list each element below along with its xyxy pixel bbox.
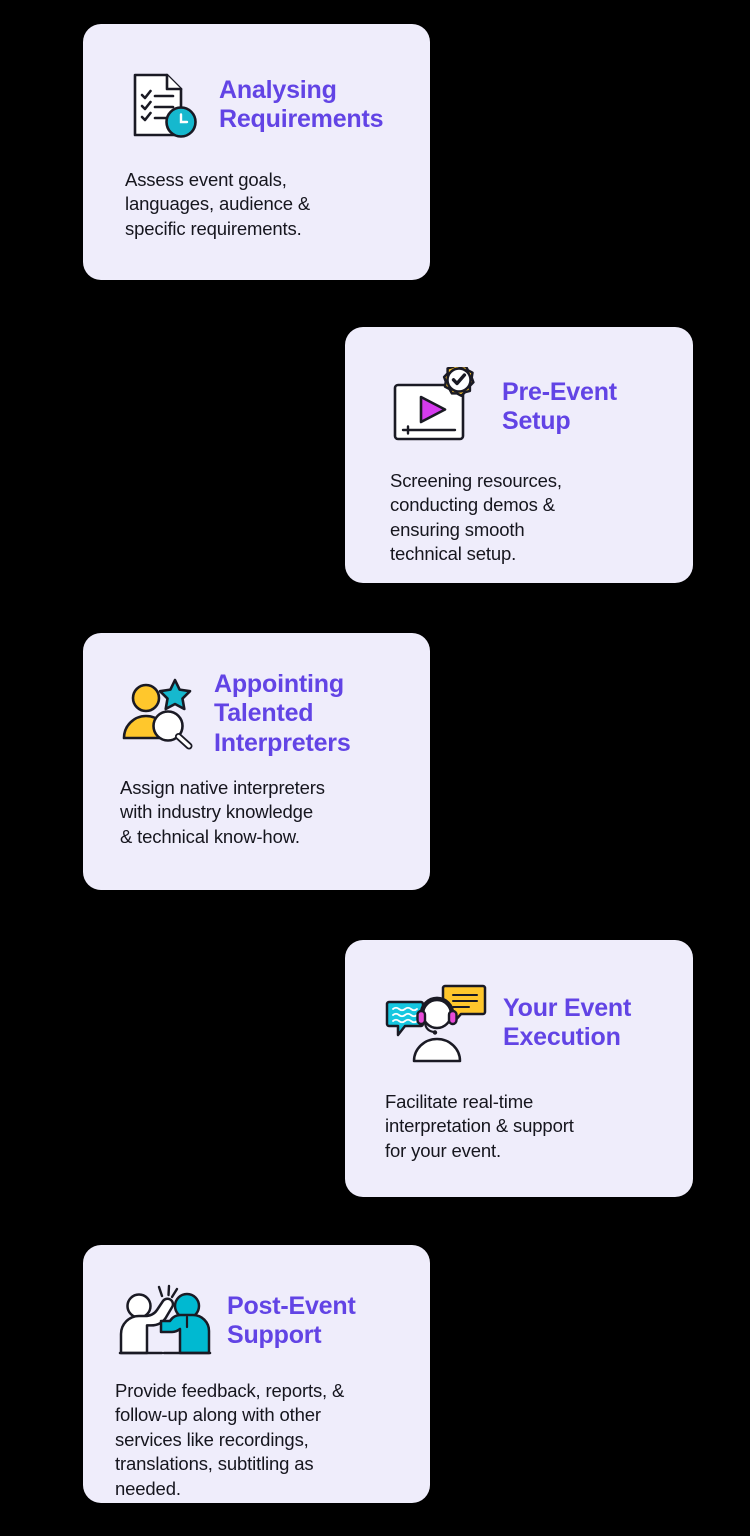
card-description: Facilitate real-time interpretation & su… [345, 1064, 660, 1163]
card-header: Your Event Execution [345, 940, 693, 1064]
card-title: Appointing Talented Interpreters [214, 670, 351, 758]
card-description: Assign native interpreters with industry… [83, 758, 398, 849]
headset-person-speech-bubbles-icon [385, 982, 489, 1064]
card-header: Analysing Requirements [83, 24, 430, 144]
step-card-your-event-execution[interactable]: Your Event Execution Facilitate real-tim… [345, 940, 693, 1197]
card-description: Assess event goals, languages, audience … [83, 144, 377, 241]
card-title: Post-Event Support [227, 1292, 356, 1351]
process-steps-infographic: Analysing Requirements Assess event goal… [0, 0, 750, 1536]
step-card-analysing-requirements[interactable]: Analysing Requirements Assess event goal… [83, 24, 430, 280]
card-header: Post-Event Support [83, 1245, 430, 1359]
card-header: Appointing Talented Interpreters [83, 633, 430, 758]
high-five-people-icon [115, 1283, 215, 1359]
step-card-appointing-talented-interpreters[interactable]: Appointing Talented Interpreters Assign … [83, 633, 430, 890]
card-description: Screening resources, conducting demos & … [345, 447, 635, 567]
card-header: Pre-Event Setup [345, 327, 693, 447]
video-player-gear-check-icon [390, 367, 486, 447]
document-checklist-clock-icon [125, 66, 203, 144]
card-title: Your Event Execution [503, 994, 631, 1053]
card-description: Provide feedback, reports, & follow-up a… [83, 1359, 405, 1501]
step-card-post-event-support[interactable]: Post-Event Support Provide feedback, rep… [83, 1245, 430, 1503]
card-title: Pre-Event Setup [502, 378, 617, 437]
step-card-pre-event-setup[interactable]: Pre-Event Setup Screening resources, con… [345, 327, 693, 583]
card-title: Analysing Requirements [219, 76, 383, 135]
person-star-magnifier-icon [120, 674, 200, 754]
